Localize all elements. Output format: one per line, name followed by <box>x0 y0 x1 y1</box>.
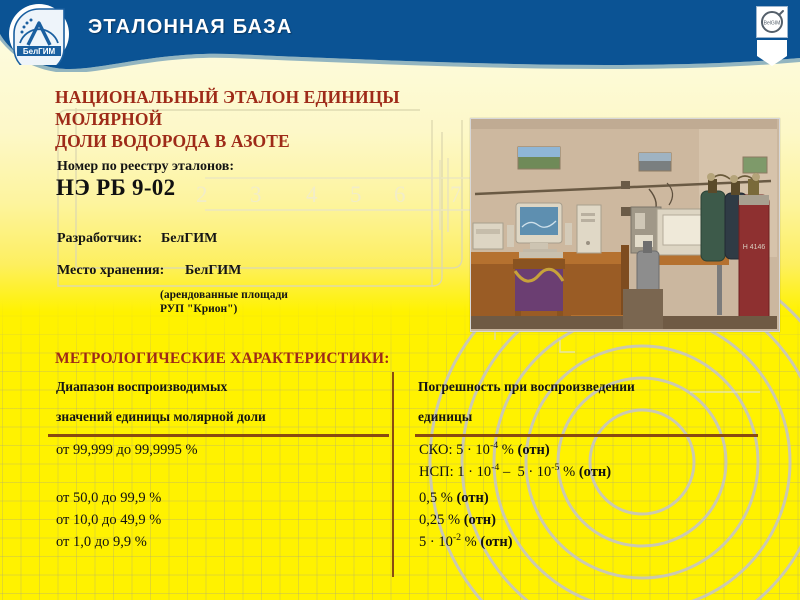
watermark-number: 7 <box>450 182 462 207</box>
registry-label: Номер по реестру эталонов: <box>57 159 234 175</box>
range-row: от 1,0 до 9,9 % <box>56 534 147 551</box>
svg-text:БелГИМ: БелГИМ <box>23 47 56 56</box>
metrology-right-column-header: Погрешность при воспроизведении единицы <box>418 372 778 432</box>
range-row: от 10,0 до 49,9 % <box>56 512 161 529</box>
header-bar: БелГИМ ЭТАЛОННАЯ БАЗА BelGIM <box>0 0 800 72</box>
page-title: НАЦИОНАЛЬНЫЙ ЭТАЛОН ЕДИНИЦЫ МОЛЯРНОЙ ДОЛ… <box>55 86 475 152</box>
metrology-rule-left <box>48 434 389 437</box>
error-row: НСП: 1 · 10-4 – 5 · 10-5 % (отн) <box>419 464 611 481</box>
range-row: от 50,0 до 99,9 % <box>56 490 161 507</box>
belgim-logo-icon: БелГИМ <box>8 3 70 65</box>
error-row: 0,5 % (отн) <box>419 490 489 507</box>
developer-value: БелГИМ <box>161 231 217 247</box>
svg-text:BelGIM: BelGIM <box>764 21 781 27</box>
watermark-number: 4 <box>306 182 318 207</box>
page-title-line2: ДОЛИ ВОДОРОДА В АЗОТЕ <box>55 130 475 152</box>
registry-value: НЭ РБ 9-02 <box>56 175 175 201</box>
slide-canvas: 2 3 4 5 6 7 <box>0 0 800 600</box>
storage-note: (арендованные площади РУП "Крион") <box>160 288 288 316</box>
storage-label: Место хранения: <box>57 263 185 279</box>
developer-row: Разработчик:БелГИМ <box>57 231 217 247</box>
header-title: ЭТАЛОННАЯ БАЗА <box>88 16 293 39</box>
secondary-logo-icon: BelGIM <box>756 6 788 38</box>
error-row: СКО: 5 · 10-4 % (отн) <box>419 442 550 459</box>
laboratory-photo: Н 4146 <box>470 118 780 332</box>
metrology-left-column-header: Диапазон воспроизводимых значений единиц… <box>56 372 386 432</box>
developer-label: Разработчик: <box>57 231 161 247</box>
watermark-number: 5 <box>350 182 362 207</box>
metrology-section-title: МЕТРОЛОГИЧЕСКИЕ ХАРАКТЕРИСТИКИ: <box>55 350 390 368</box>
error-row: 0,25 % (отн) <box>419 512 496 529</box>
page-title-line1: НАЦИОНАЛЬНЫЙ ЭТАЛОН ЕДИНИЦЫ МОЛЯРНОЙ <box>55 86 475 130</box>
storage-value: БелГИМ <box>185 263 241 279</box>
error-row: 5 · 10-2 % (отн) <box>419 534 513 551</box>
shield-badge-icon <box>757 40 787 66</box>
range-row: от 99,999 до 99,9995 % <box>56 442 198 459</box>
metrology-column-divider <box>392 372 394 577</box>
storage-row: Место хранения:БелГИМ <box>57 263 241 279</box>
watermark-number: 2 <box>196 182 208 207</box>
watermark-number: 6 <box>394 182 406 207</box>
watermark-number: 3 <box>250 182 262 207</box>
metrology-rule-right <box>415 434 758 437</box>
svg-text:Н 4146: Н 4146 <box>743 244 766 251</box>
